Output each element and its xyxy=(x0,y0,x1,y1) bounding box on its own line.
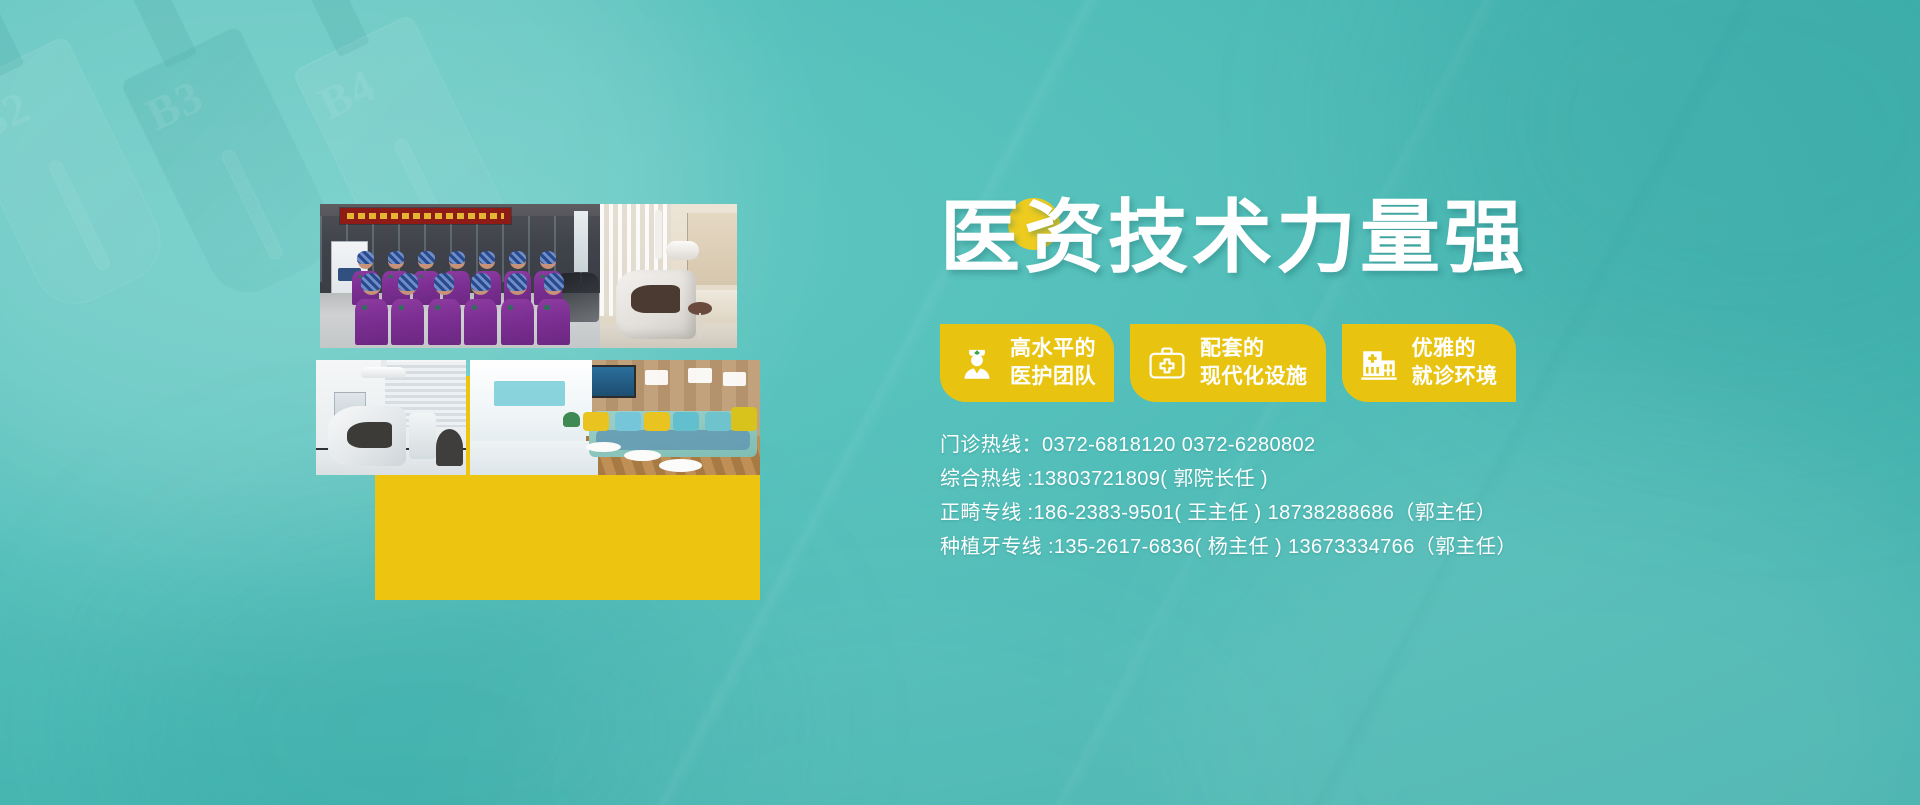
shade-tab-label: B2 xyxy=(0,80,38,152)
feature-badge-label: 高水平的 医护团队 xyxy=(1010,335,1096,390)
feature-badge-line2: 现代化设施 xyxy=(1200,365,1308,388)
treatment-room-photo xyxy=(600,204,737,348)
shade-tab-stem xyxy=(294,0,370,57)
feature-badge-label: 优雅的 就诊环境 xyxy=(1412,335,1498,390)
feature-badge-line2: 就诊环境 xyxy=(1412,365,1498,388)
dental-operatory-photo xyxy=(316,360,466,475)
contact-info-list: 门诊热线：0372-6818120 0372-6280802 综合热线 :138… xyxy=(940,428,1640,564)
headline-area: 医资技术力量强 xyxy=(940,196,1640,306)
banner-content: 医资技术力量强 高水平的 医护团队 xyxy=(940,196,1640,564)
contact-line-implants[interactable]: 种植牙专线 :135-2617-6836( 杨主任 ) 13673334766（… xyxy=(940,530,1640,564)
shade-tab-groove xyxy=(220,148,285,262)
feature-badge-list: 高水平的 医护团队 配套的 现代化设施 xyxy=(940,324,1640,402)
dental-team-group-photo-image xyxy=(320,204,605,348)
feature-badge-line1: 优雅的 xyxy=(1412,337,1477,360)
dental-team-group-photo xyxy=(320,204,605,348)
medical-kit-icon xyxy=(1146,342,1188,384)
treatment-room-photo-image xyxy=(600,204,737,348)
page-title: 医资技术力量强 xyxy=(940,196,1528,281)
shade-tab: B2 xyxy=(0,35,175,318)
shade-tab-label: B4 xyxy=(311,58,384,130)
contact-line-outpatient[interactable]: 门诊热线：0372-6818120 0372-6280802 xyxy=(940,428,1640,462)
feature-badge-line1: 配套的 xyxy=(1200,337,1265,360)
feature-badge-line2: 医护团队 xyxy=(1010,365,1096,388)
contact-line-general[interactable]: 综合热线 :13803721809( 郭院长任 ) xyxy=(940,462,1640,496)
shade-tab-label: B3 xyxy=(138,69,211,141)
feature-badge-line1: 高水平的 xyxy=(1010,337,1096,360)
feature-badge-medical-team[interactable]: 高水平的 医护团队 xyxy=(940,324,1114,402)
waiting-lounge-photo-image xyxy=(470,360,760,475)
dental-operatory-photo-image xyxy=(316,360,466,475)
nurse-icon xyxy=(956,342,998,384)
feature-badge-modern-facilities[interactable]: 配套的 现代化设施 xyxy=(1130,324,1326,402)
shade-tab: B1 xyxy=(0,46,2,329)
feature-badge-clinic-environment[interactable]: 优雅的 就诊环境 xyxy=(1342,324,1516,402)
feature-badge-label: 配套的 现代化设施 xyxy=(1200,335,1308,390)
shade-tab-stem xyxy=(121,0,197,68)
clinic-hero-banner: B1 B2 B3 B4 xyxy=(0,0,1920,805)
waiting-lounge-photo xyxy=(470,360,760,475)
shade-tab-groove xyxy=(47,158,112,272)
contact-line-orthodontics[interactable]: 正畸专线 :186-2383-9501( 王主任 ) 18738288686（郭… xyxy=(940,496,1640,530)
photo-collage xyxy=(300,200,920,610)
hospital-building-icon xyxy=(1358,342,1400,384)
shade-tab-stem xyxy=(0,0,25,79)
